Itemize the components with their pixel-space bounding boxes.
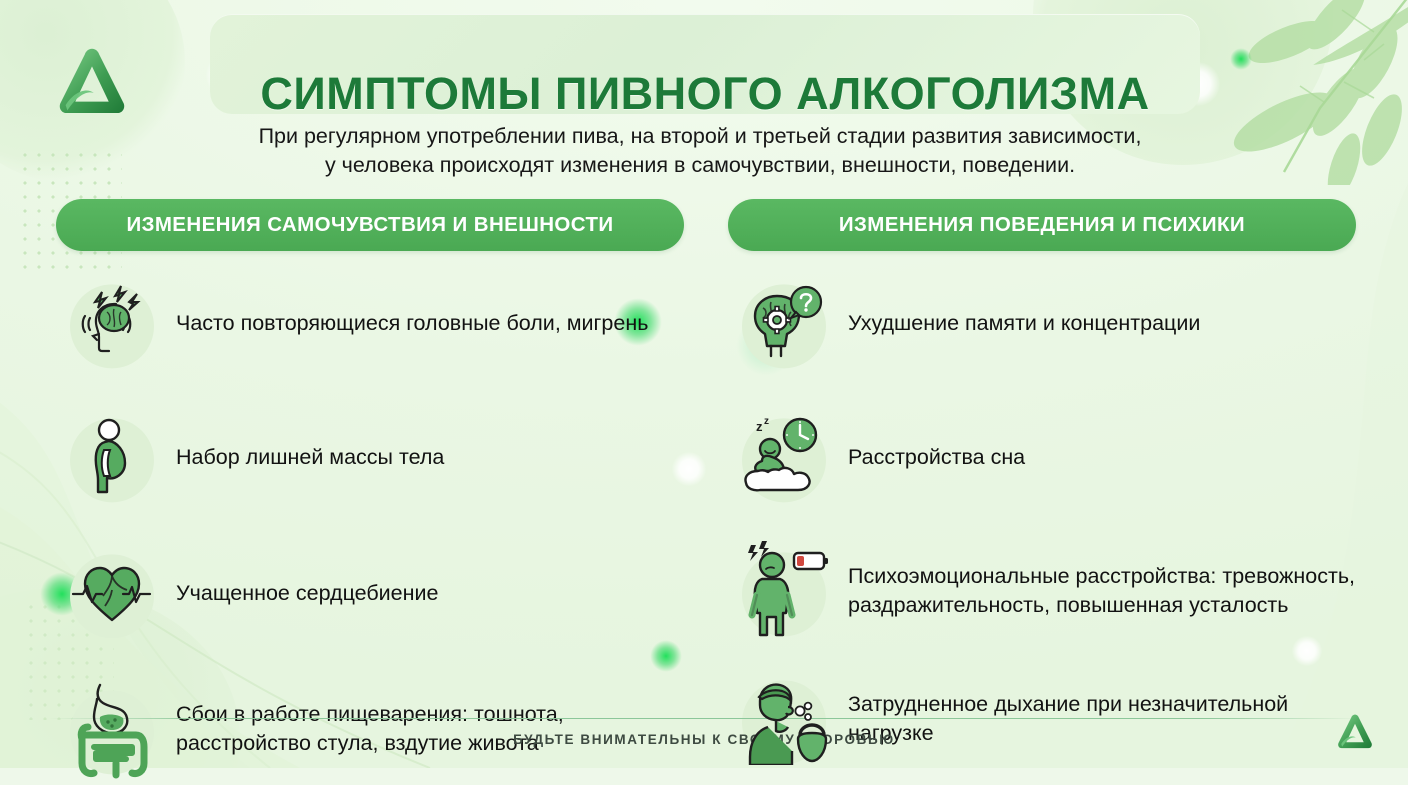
footer-note: БУДЬТЕ ВНИМАТЕЛЬНЫ К СВОЕМУ ЗДОРОВЬЮ [0,732,1408,747]
triangle-knot-logo [1332,710,1378,756]
list-item: Набор лишней массы тела [56,401,690,513]
insomnia-cloud-clock-icon: z z [738,411,830,503]
heart-pulse-icon [71,552,153,634]
list-item-label: Набор лишней массы тела [168,443,450,472]
list-item: Учащенное сердцебиение [56,537,690,649]
bokeh-light [1230,48,1252,70]
icon-wrap [728,267,840,379]
list-item-label: Расстройства сна [840,443,1031,472]
icon-wrap [56,673,168,785]
subtitle: При регулярном употреблении пива, на вто… [140,122,1260,180]
list-item: Часто повторяющиеся головные боли, мигре… [56,267,690,379]
tired-person-battery-icon [738,539,830,643]
subtitle-line-1: При регулярном употреблении пива, на вто… [140,122,1260,151]
footer-divider [48,718,1360,719]
overweight-person-icon [71,416,153,498]
triangle-knot-logo [48,40,136,128]
list-item: Затрудненное дыхание при незначительной … [728,663,1362,775]
symptom-list-behaviour-psyche: Ухудшение памяти и концентрации z z [728,267,1362,775]
list-item-label: Часто повторяющиеся головные боли, мигре… [168,309,654,338]
icon-wrap: z z [728,401,840,513]
column-health-appearance: ИЗМЕНЕНИЯ САМОЧУВСТВИЯ И ВНЕШНОСТИ [56,199,690,785]
section-header-behaviour-psyche: ИЗМЕНЕНИЯ ПОВЕДЕНИЯ И ПСИХИКИ [728,199,1356,251]
breathless-person-kettlebell-icon [738,673,830,765]
icon-wrap [56,267,168,379]
list-item-label: Учащенное сердцебиение [168,579,444,608]
column-behaviour-psyche: ИЗМЕНЕНИЯ ПОВЕДЕНИЯ И ПСИХИКИ [728,199,1362,775]
stomach-intestines-icon [66,679,158,779]
list-item: Сбои в работе пищеварения: тошнота, расс… [56,673,690,785]
section-header-health-appearance: ИЗМЕНЕНИЯ САМОЧУВСТВИЯ И ВНЕШНОСТИ [56,199,684,251]
icon-wrap [728,535,840,647]
list-item: z z Расстройства сна [728,401,1362,513]
svg-text:z: z [764,416,769,427]
list-item-label: Ухудшение памяти и концентрации [840,309,1206,338]
svg-text:z: z [756,419,763,434]
headache-brain-icon [71,282,153,364]
list-item: Ухудшение памяти и концентрации [728,267,1362,379]
list-item-label: Сбои в работе пищеварения: тошнота, расс… [168,700,690,758]
list-item-label: Психоэмоциональные расстройства: тревожн… [840,562,1362,620]
brain-gear-question-icon [741,280,827,366]
icon-wrap [56,401,168,513]
list-item: Психоэмоциональные расстройства: тревожн… [728,535,1362,647]
symptom-list-health-appearance: Часто повторяющиеся головные боли, мигре… [56,267,690,785]
icon-wrap [728,663,840,775]
subtitle-line-2: у человека происходят изменения в самочу… [140,151,1260,180]
icon-wrap [56,537,168,649]
